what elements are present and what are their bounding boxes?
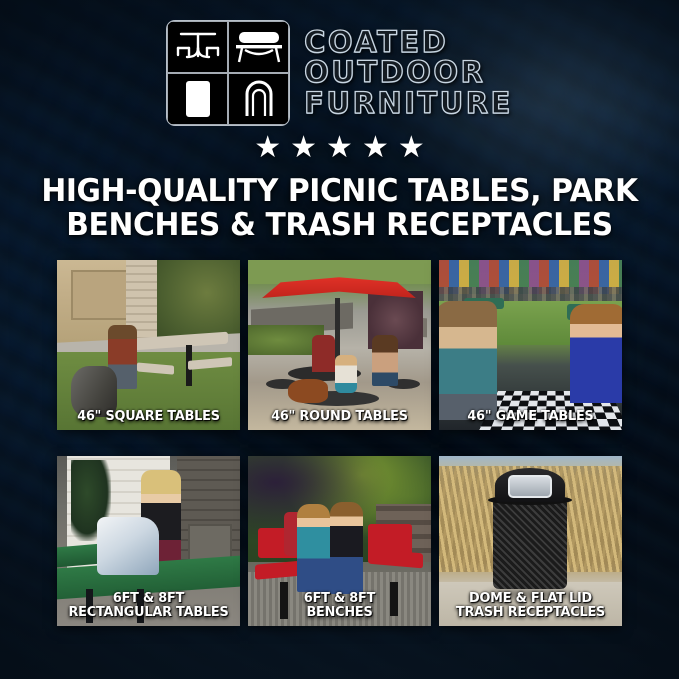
logo-icon-grid <box>166 20 290 126</box>
caption-line-1: 46" SQUARE TABLES <box>77 408 220 424</box>
category-caption: 46" GAME TABLES <box>443 409 617 423</box>
brand-logo: COATED OUTDOOR FURNITURE <box>0 0 679 122</box>
headline-line-1: HIGH-QUALITY PICNIC TABLES, PARK <box>41 173 637 209</box>
category-photo <box>439 260 622 430</box>
caption-line-2: RECTANGULAR TABLES <box>61 605 235 619</box>
category-caption: 46" ROUND TABLES <box>252 409 426 423</box>
category-tile-benches[interactable]: 6FT & 8FT BENCHES <box>248 456 431 626</box>
brand-wordmark: COATED OUTDOOR FURNITURE <box>304 28 513 119</box>
star-icon: ★ <box>326 133 353 163</box>
category-photo <box>248 260 431 430</box>
brand-line-1: COATED <box>304 28 513 58</box>
brand-line-3: FURNITURE <box>304 89 513 119</box>
promo-banner: COATED OUTDOOR FURNITURE ★ ★ ★ ★ ★ HIGH-… <box>0 0 679 679</box>
category-tile-square-tables[interactable]: 46" SQUARE TABLES <box>57 260 240 430</box>
category-caption: 6FT & 8FT BENCHES <box>252 591 426 620</box>
caption-line-2: TRASH RECEPTACLES <box>443 605 617 619</box>
star-icon: ★ <box>398 133 425 163</box>
category-tile-trash-receptacles[interactable]: DOME & FLAT LID TRASH RECEPTACLES <box>439 456 622 626</box>
category-caption: DOME & FLAT LID TRASH RECEPTACLES <box>443 591 617 620</box>
star-icon: ★ <box>290 133 317 163</box>
caption-line-2: BENCHES <box>252 605 426 619</box>
brand-line-2: OUTDOOR <box>304 58 513 88</box>
caption-line-1: 46" GAME TABLES <box>467 408 593 424</box>
bike-rack-icon <box>228 73 289 125</box>
headline: HIGH-QUALITY PICNIC TABLES, PARK BENCHES… <box>37 174 643 242</box>
trash-can-icon <box>167 73 228 125</box>
headline-line-2: BENCHES & TRASH RECEPTACLES <box>37 208 643 242</box>
category-tile-round-tables[interactable]: 46" ROUND TABLES <box>248 260 431 430</box>
picnic-table-icon <box>167 21 228 73</box>
star-icon: ★ <box>254 133 281 163</box>
star-icon: ★ <box>362 133 389 163</box>
category-caption: 46" SQUARE TABLES <box>61 409 235 423</box>
category-tile-game-tables[interactable]: 46" GAME TABLES <box>439 260 622 430</box>
caption-line-1: 46" ROUND TABLES <box>271 408 408 424</box>
category-caption: 6FT & 8FT RECTANGULAR TABLES <box>61 591 235 620</box>
category-photo <box>57 260 240 430</box>
bench-icon <box>228 21 289 73</box>
product-category-grid: 46" SQUARE TABLES 46" ROUND TABLES <box>57 260 623 626</box>
star-rating: ★ ★ ★ ★ ★ <box>0 128 679 168</box>
banner-content: COATED OUTDOOR FURNITURE ★ ★ ★ ★ ★ HIGH-… <box>0 0 679 626</box>
category-tile-rectangular-tables[interactable]: 6FT & 8FT RECTANGULAR TABLES <box>57 456 240 626</box>
